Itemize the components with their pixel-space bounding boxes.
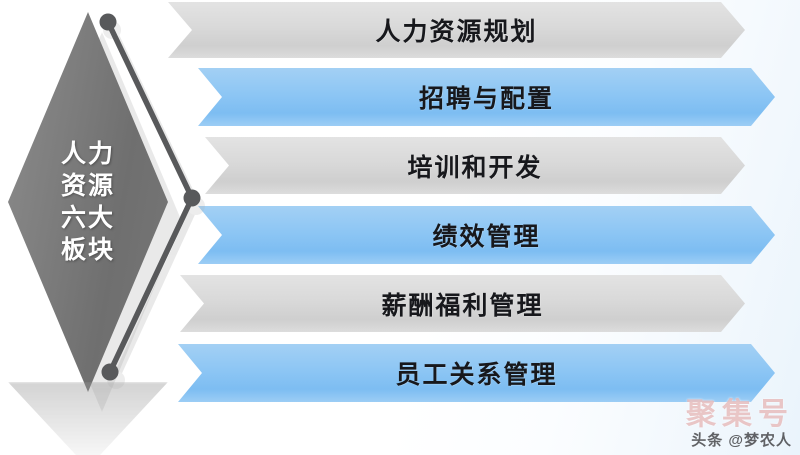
- module-label-2: 招聘与配置: [419, 79, 554, 115]
- module-arrow-5[interactable]: 薪酬福利管理: [180, 275, 745, 332]
- module-label-3: 培训和开发: [407, 148, 542, 184]
- diagram-canvas: 人力 资源 六大 板块 人力资源规划 招聘与配置 培训和开发: [0, 0, 800, 455]
- module-label-6: 员工关系管理: [395, 355, 557, 391]
- module-arrow-3[interactable]: 培训和开发: [205, 137, 745, 194]
- module-arrow-6[interactable]: 员工关系管理: [178, 344, 775, 402]
- connector-node-top: [100, 14, 117, 31]
- connector-node-bottom: [102, 364, 119, 381]
- module-label-1: 人力资源规划: [375, 12, 537, 48]
- module-label-4: 绩效管理: [432, 217, 540, 253]
- module-arrow-2[interactable]: 招聘与配置: [198, 68, 775, 126]
- module-arrow-4[interactable]: 绩效管理: [198, 206, 775, 264]
- bracket-connector: [80, 0, 220, 420]
- connector-node-middle: [184, 190, 201, 207]
- module-label-5: 薪酬福利管理: [381, 286, 543, 322]
- module-arrow-1[interactable]: 人力资源规划: [168, 2, 745, 58]
- author-watermark: 头条 @梦农人: [691, 429, 792, 450]
